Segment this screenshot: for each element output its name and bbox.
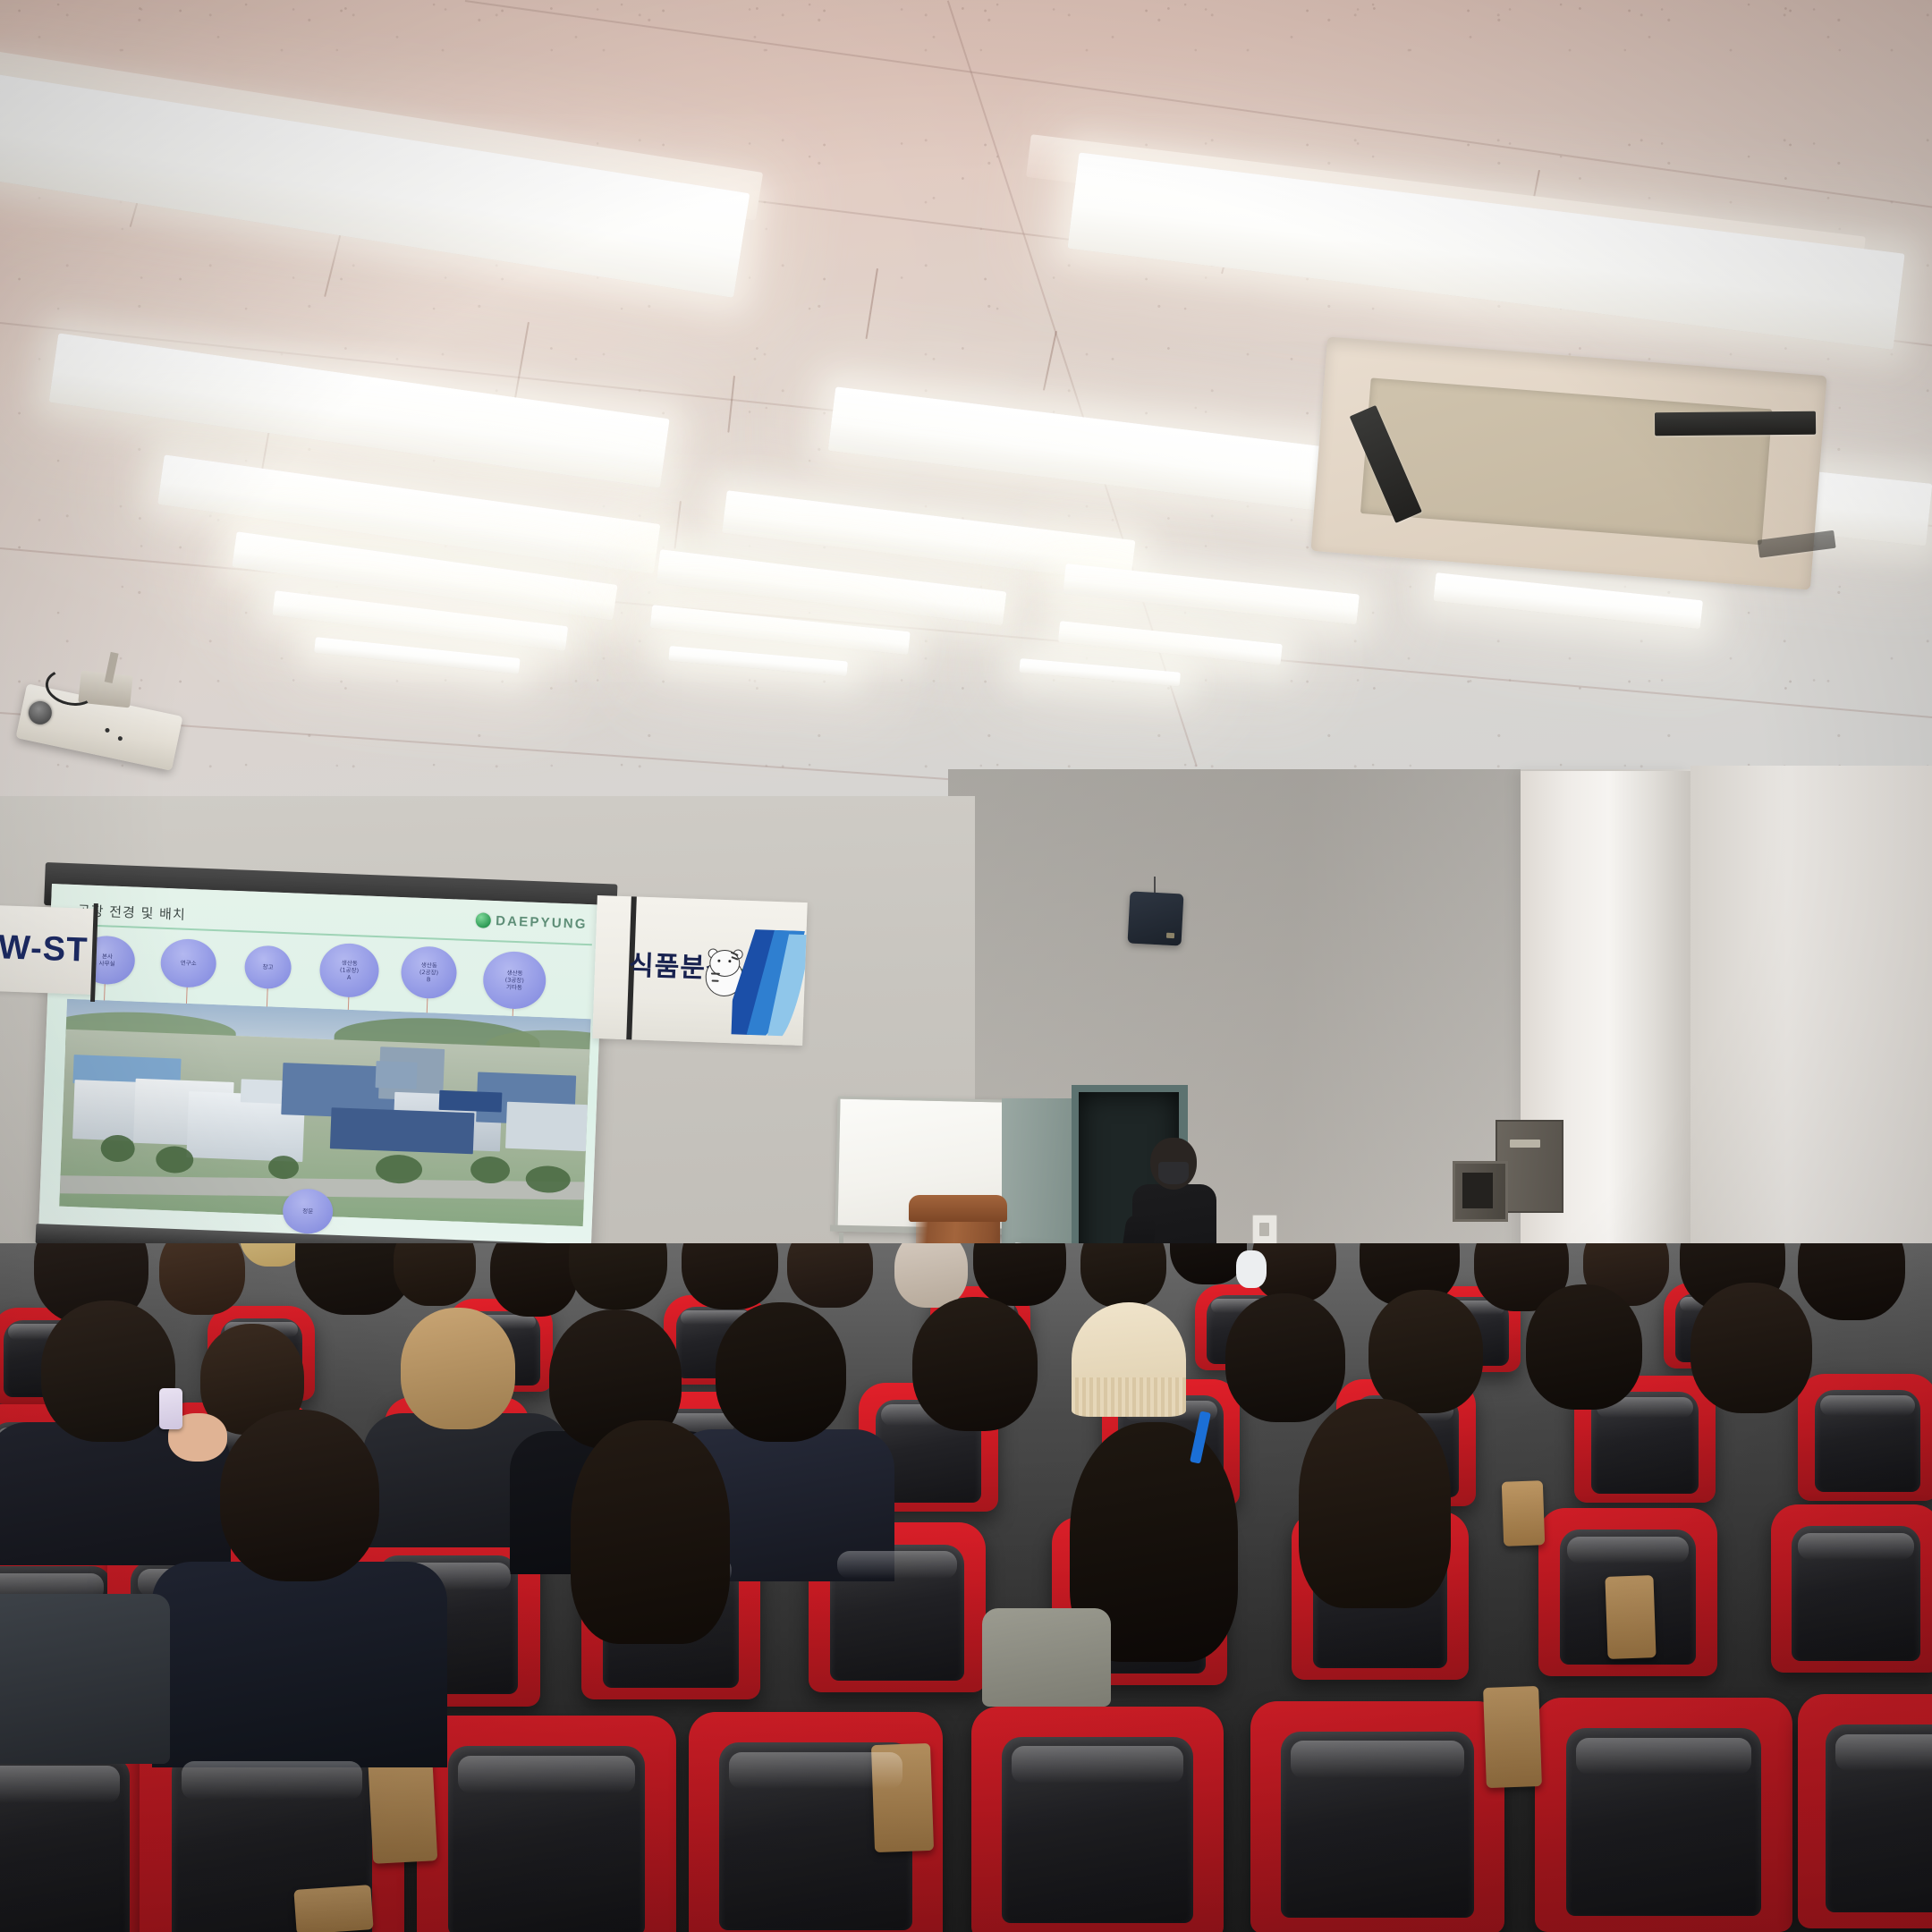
left-wall-banner: W-ST [0,905,98,995]
seat[interactable] [1798,1374,1932,1501]
slide-node-label: 생산동 (3공장) 기타동 [504,969,524,991]
attendee-head [159,1243,245,1315]
slide-logo-text: DAEPYUNG [496,913,588,932]
lectern-top [909,1195,1007,1222]
armrest [1605,1575,1656,1659]
attendee-head [787,1243,873,1308]
audience-seating-area [0,1243,1932,1932]
smartphone[interactable] [159,1388,182,1429]
seat[interactable] [1250,1701,1504,1932]
face-mask-icon [1236,1250,1267,1288]
presentation-slide: 공장 전경 및 배치 DAEPYUNG [38,884,605,1258]
wave-graphic [732,928,808,1037]
ceiling-air-conditioner [1310,336,1826,589]
attendee-head [220,1410,379,1581]
seat[interactable] [1771,1504,1932,1673]
slide-logo: DAEPYUNG [476,912,588,932]
attendee-head [1080,1243,1166,1308]
face-mask-icon [1158,1162,1189,1184]
green-globe-icon [476,912,492,928]
lecture-hall-photo: 공장 전경 및 배치 DAEPYUNG [0,0,1932,1932]
slide-node-label: 연구소 [181,960,197,968]
attendee-head [394,1243,476,1306]
wall-outlet [1252,1215,1277,1245]
seat[interactable] [1798,1694,1932,1928]
attendee-head [1690,1283,1812,1413]
slide-node-label: 정문 [302,1207,313,1216]
attendee-head [1526,1284,1642,1410]
slide-node: 연구소 [160,938,217,988]
armrest [293,1885,373,1932]
attendee-head [490,1243,578,1317]
ceiling [0,0,1932,859]
slide-node: 생산동 (1공장) A [318,943,379,998]
attendee-head [716,1302,846,1442]
attendee-head [1299,1399,1451,1608]
slide-node-label: 본사 사무실 [98,953,115,968]
wall-control-box[interactable] [1453,1161,1508,1222]
attendee-shoulders [152,1562,447,1767]
wall-speaker [1128,891,1184,945]
ac-vent [1655,411,1816,436]
seat[interactable] [1535,1698,1792,1932]
armrest [1502,1480,1545,1546]
seat[interactable] [971,1707,1224,1932]
attendee-head [973,1243,1066,1306]
slide-node-label: 생산동 (1공장) A [339,959,359,981]
structural-pillar [1690,766,1932,1320]
attendee-head [1798,1243,1905,1320]
projector-lens-icon [26,699,54,726]
factory-aerial-photo [59,999,590,1226]
attendee-head [894,1243,968,1308]
attendee-head [1225,1293,1345,1422]
right-wall-banner: 식품분석 [592,895,807,1046]
attendee-head [569,1243,667,1309]
slide-node: 생산동 (2공장) B [400,945,457,999]
attendee-head [682,1243,778,1309]
projection-screen: 공장 전경 및 배치 DAEPYUNG [38,884,605,1258]
attendee-head [401,1308,515,1429]
seat[interactable] [417,1716,676,1932]
left-banner-text: W-ST [0,928,89,970]
jacket [0,1594,170,1764]
slide-node: 생산동 (3공장) 기타동 [482,951,547,1011]
slide-node: 창고 [244,945,292,989]
backpack [982,1608,1111,1707]
slide-node-label: 생산동 (2공장) B [419,962,438,984]
ac-panel [1360,377,1773,545]
attendee-head [571,1420,730,1644]
slide-node-label: 창고 [262,963,273,971]
attendee-head [912,1297,1038,1431]
armrest [1483,1686,1542,1788]
attendee-with-beanie [1072,1302,1186,1417]
attendee-head [41,1301,175,1442]
attendee-head [1368,1290,1483,1413]
structural-pillar [1521,771,1690,1308]
